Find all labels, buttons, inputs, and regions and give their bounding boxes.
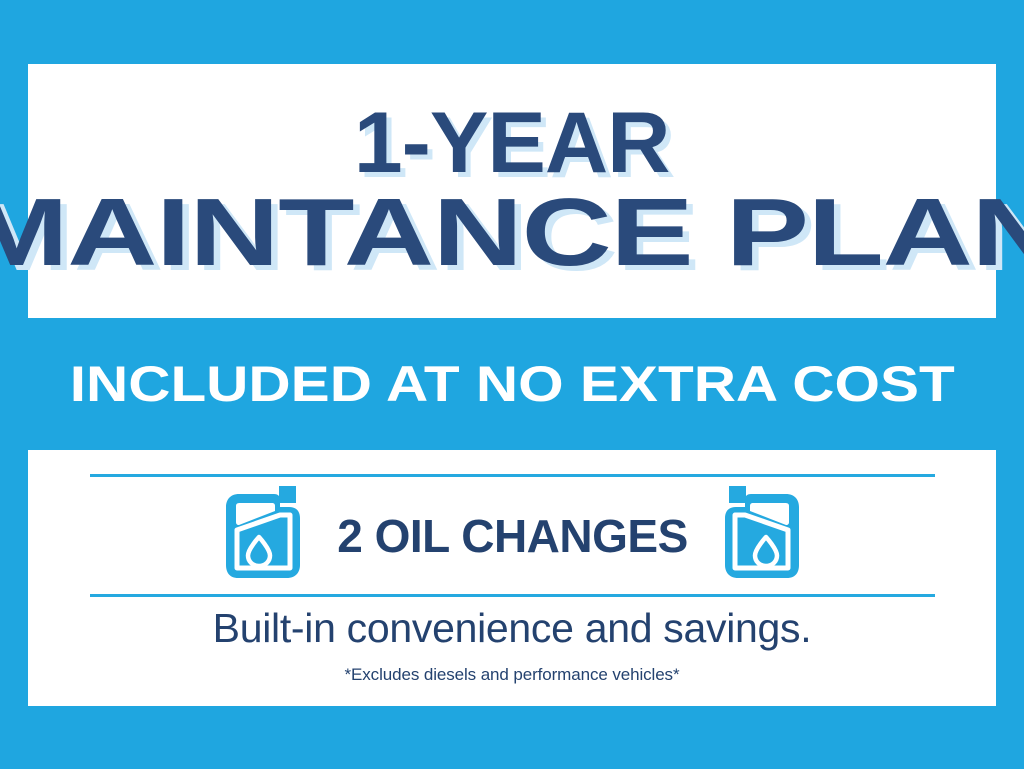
oil-can-icon bbox=[217, 485, 303, 586]
offer-row: 2 OIL CHANGES bbox=[90, 477, 935, 594]
disclaimer: *Excludes diesels and performance vehicl… bbox=[28, 665, 996, 685]
headline-card: 1-YEAR MAINTANCE PLAN bbox=[28, 64, 996, 318]
headline-line-1: 1-YEAR bbox=[354, 104, 670, 183]
offer-title: 2 OIL CHANGES bbox=[337, 509, 688, 563]
oil-can-icon bbox=[722, 485, 808, 586]
tagline: Built-in convenience and savings. bbox=[28, 605, 996, 652]
divider-bottom bbox=[90, 594, 935, 597]
promo-poster: 1-YEAR MAINTANCE PLAN INCLUDED AT NO EXT… bbox=[0, 0, 1024, 769]
subtitle-band: INCLUDED AT NO EXTRA COST bbox=[0, 318, 1024, 450]
subtitle-text: INCLUDED AT NO EXTRA COST bbox=[69, 355, 954, 413]
details-card: 2 OIL CHANGES Built-in convenience and s… bbox=[28, 450, 996, 706]
headline-line-2: MAINTANCE PLAN bbox=[0, 189, 1024, 277]
